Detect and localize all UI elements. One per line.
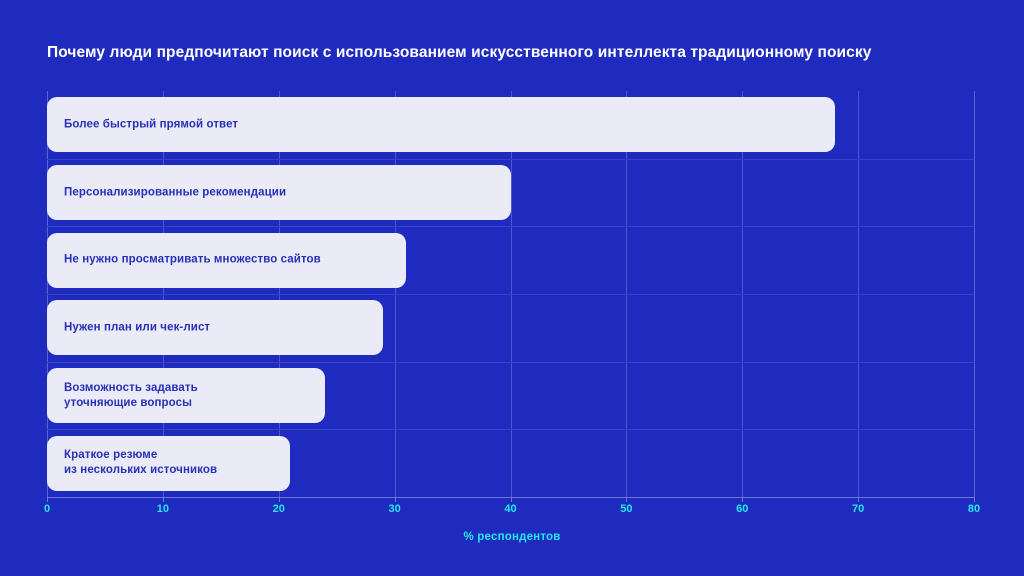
tick-mark: [279, 497, 280, 502]
tick-label: 10: [157, 503, 169, 515]
bar-row[interactable]: Персонализированные рекомендации: [47, 165, 974, 220]
row-separator: [47, 294, 974, 295]
tick-mark: [47, 497, 48, 502]
bar-category-label: Не нужно просматривать множество сайтов: [64, 253, 321, 268]
tick-mark: [626, 497, 627, 502]
gridline: [974, 91, 975, 497]
bar-row[interactable]: Не нужно просматривать множество сайтов: [47, 233, 974, 288]
tick-mark: [163, 497, 164, 502]
bar-category-label: Более быстрый прямой ответ: [64, 117, 238, 132]
bar-category-label: Возможность задавать уточняющие вопросы: [64, 381, 198, 411]
row-separator: [47, 362, 974, 363]
tick-label: 20: [273, 503, 285, 515]
tick-label: 70: [852, 503, 864, 515]
tick-mark: [974, 497, 975, 502]
row-separator: [47, 226, 974, 227]
bar-category-label: Краткое резюме из нескольких источников: [64, 448, 217, 478]
row-separator: [47, 429, 974, 430]
bar-category-label: Персонализированные рекомендации: [64, 185, 286, 200]
chart-title: Почему люди предпочитают поиск с использ…: [47, 44, 987, 62]
bar-row[interactable]: Более быстрый прямой ответ: [47, 97, 974, 152]
tick-label: 40: [504, 503, 516, 515]
chart-slide: Почему люди предпочитают поиск с использ…: [0, 0, 1024, 576]
plot-area: Более быстрый прямой ответПерсонализиров…: [47, 91, 974, 497]
row-separator: [47, 159, 974, 160]
bar-row[interactable]: Нужен план или чек-лист: [47, 300, 974, 355]
tick-label: 60: [736, 503, 748, 515]
tick-label: 80: [968, 503, 980, 515]
tick-mark: [742, 497, 743, 502]
tick-mark: [395, 497, 396, 502]
bar-row[interactable]: Краткое резюме из нескольких источников: [47, 436, 974, 491]
tick-mark: [511, 497, 512, 502]
bar-series: Более быстрый прямой ответПерсонализиров…: [47, 91, 974, 497]
tick-mark: [858, 497, 859, 502]
bar-row[interactable]: Возможность задавать уточняющие вопросы: [47, 368, 974, 423]
tick-label: 50: [620, 503, 632, 515]
bar-category-label: Нужен план или чек-лист: [64, 320, 210, 335]
x-axis-title: % респондентов: [0, 531, 1024, 543]
tick-label: 30: [389, 503, 401, 515]
tick-label: 0: [44, 503, 50, 515]
